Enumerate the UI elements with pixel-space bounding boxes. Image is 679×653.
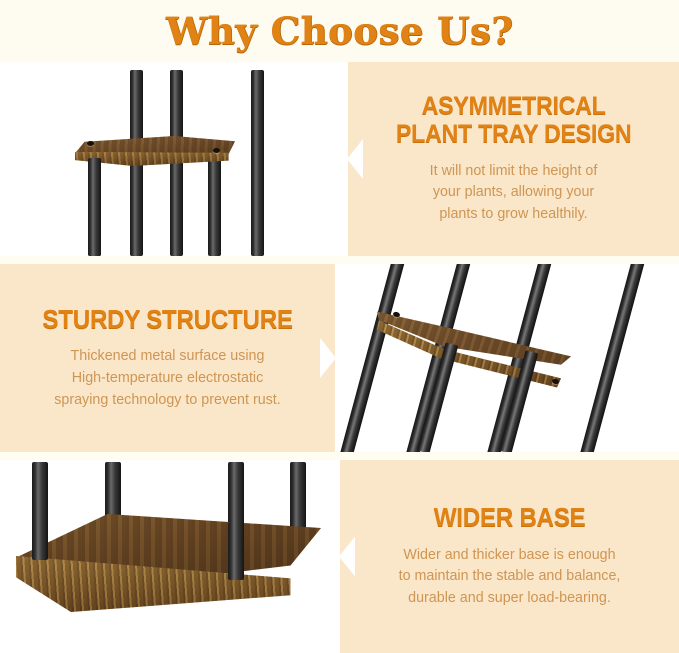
header-band: Why Choose Us? [0, 0, 679, 62]
feature-body: It will not limit the height of your pla… [430, 161, 598, 226]
metal-pole [335, 264, 407, 452]
product-photo-tray-closeup: Angled close-up of wooden tray edge and … [335, 264, 679, 452]
feature-heading: ASYMMETRICAL PLANT TRAY DESIGN [396, 92, 632, 149]
feature-panel-sturdy-structure: STURDY STRUCTURE Thickened metal surface… [0, 264, 335, 452]
feature-row-sturdy-structure: STURDY STRUCTURE Thickened metal surface… [0, 264, 679, 452]
page-title: Why Choose Us? [166, 9, 514, 53]
feature-heading: WIDER BASE [434, 503, 586, 532]
product-photo-wider-base: Thick wooden base board with four black … [0, 460, 340, 653]
metal-pole [208, 150, 221, 256]
feature-heading-line: PLANT TRAY DESIGN [396, 120, 632, 148]
metal-pole [88, 158, 101, 256]
feature-heading: STURDY STRUCTURE [42, 305, 292, 334]
feature-body-line: durable and super load-bearing. [399, 588, 621, 610]
product-photo-plant-tray: Wooden square plant tray mounted on four… [0, 62, 348, 256]
feature-body: Thickened metal surface using High-tempe… [54, 346, 281, 411]
feature-body-line: High-temperature electrostatic [54, 368, 281, 390]
feature-body-line: your plants, allowing your [430, 182, 598, 204]
wider-base-illustration [0, 460, 340, 653]
feature-body-line: to maintain the stable and balance, [399, 566, 621, 588]
feature-panel-asymmetrical-plant-tray-design: ASYMMETRICAL PLANT TRAY DESIGN It will n… [348, 62, 679, 256]
tray-screw-hole [87, 141, 94, 146]
plant-tray-illustration [0, 62, 348, 256]
tray-closeup-illustration [335, 264, 679, 452]
feature-heading-line: ASYMMETRICAL [422, 92, 606, 120]
feature-body-line: Wider and thicker base is enough [399, 545, 621, 567]
metal-pole [575, 264, 647, 452]
feature-body-line: spraying technology to prevent rust. [54, 390, 281, 412]
tray-screw-hole [213, 148, 220, 153]
feature-body-line: plants to grow healthily. [430, 204, 598, 226]
feature-heading-line: STURDY STRUCTURE [42, 304, 292, 334]
feature-row-asymmetrical-plant-tray-design: Wooden square plant tray mounted on four… [0, 62, 679, 256]
feature-body-line: It will not limit the height of [430, 161, 598, 183]
feature-row-wider-base: Thick wooden base board with four black … [0, 460, 679, 653]
metal-pole [251, 70, 264, 256]
feature-panel-wider-base: WIDER BASE Wider and thicker base is eno… [340, 460, 679, 653]
metal-pole [105, 462, 121, 520]
feature-body-line: Thickened metal surface using [54, 346, 281, 368]
metal-pole [32, 534, 48, 560]
feature-heading-line: WIDER BASE [434, 502, 586, 532]
feature-body: Wider and thicker base is enough to main… [399, 545, 621, 610]
metal-pole [228, 522, 244, 580]
infographic-page: Why Choose Us? Wooden square plant tray [0, 0, 679, 653]
